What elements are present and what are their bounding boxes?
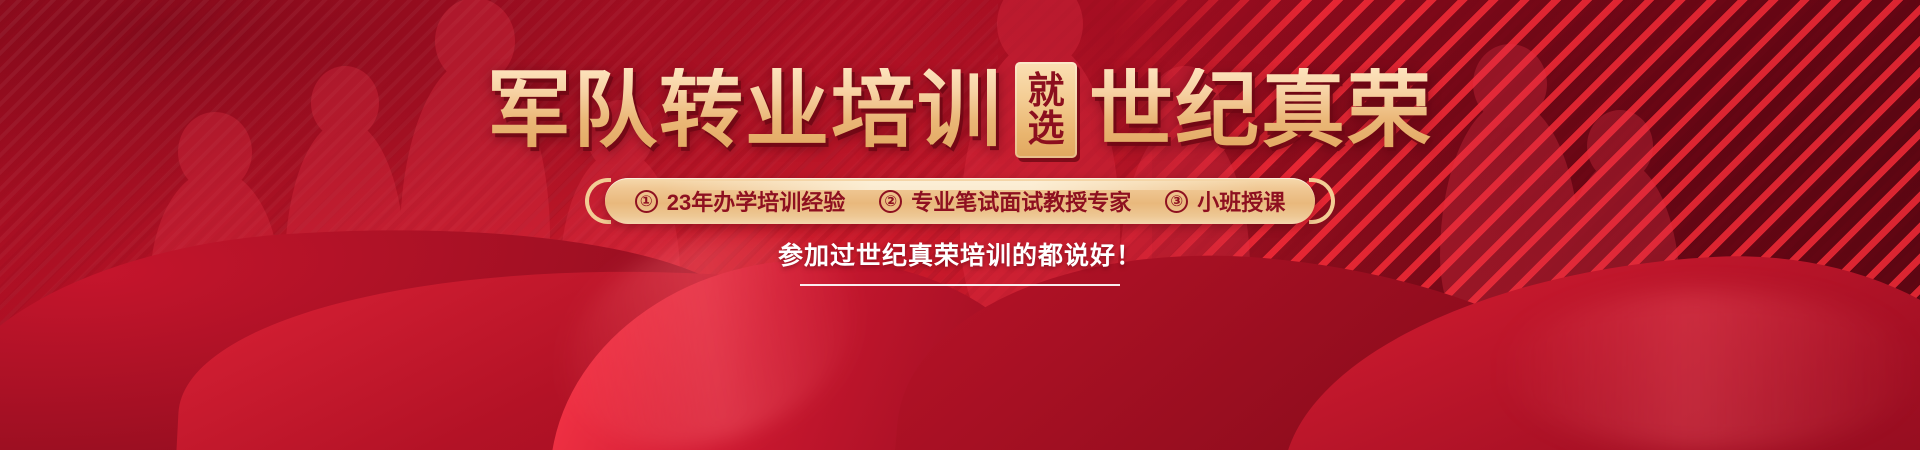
feature-item: ② 专业笔试面试教授专家 [879,185,1131,217]
headline-left-text: 军队转业培训 [487,68,1003,152]
banner-content: 军队转业培训 就 选 世纪真荣 ① 23年办学培训经验 ② 专业笔试面试教授专家 [0,0,1920,450]
feature-item: ① 23年办学培训经验 [635,185,845,217]
feature-list: ① 23年办学培训经验 ② 专业笔试面试教授专家 ③ 小班授课 [635,185,1286,217]
jiuxuan-badge: 就 选 [1015,62,1077,158]
feature-pill: ① 23年办学培训经验 ② 专业笔试面试教授专家 ③ 小班授课 [605,178,1316,224]
promo-banner: 军队转业培训 就 选 世纪真荣 ① 23年办学培训经验 ② 专业笔试面试教授专家 [0,0,1920,450]
feature-item: ③ 小班授课 [1165,185,1285,217]
feature-label: 小班授课 [1197,185,1285,217]
tagline: 参加过世纪真荣培训的都说好！ [0,236,1920,286]
feature-number-icon: ① [635,190,658,213]
feature-label: 专业笔试面试教授专家 [911,185,1131,217]
badge-line-2: 选 [1028,110,1065,148]
tagline-underline [800,284,1120,286]
tagline-text: 参加过世纪真荣培训的都说好！ [778,236,1142,272]
feature-pill-bar: ① 23年办学培训经验 ② 专业笔试面试教授专家 ③ 小班授课 [0,178,1920,224]
badge-line-1: 就 [1028,72,1065,110]
feature-number-icon: ③ [1165,190,1188,213]
headline-brand-text: 世纪真荣 [1089,68,1433,152]
feature-number-icon: ② [879,190,902,213]
headline: 军队转业培训 就 选 世纪真荣 [0,62,1920,158]
feature-label: 23年办学培训经验 [667,185,845,217]
